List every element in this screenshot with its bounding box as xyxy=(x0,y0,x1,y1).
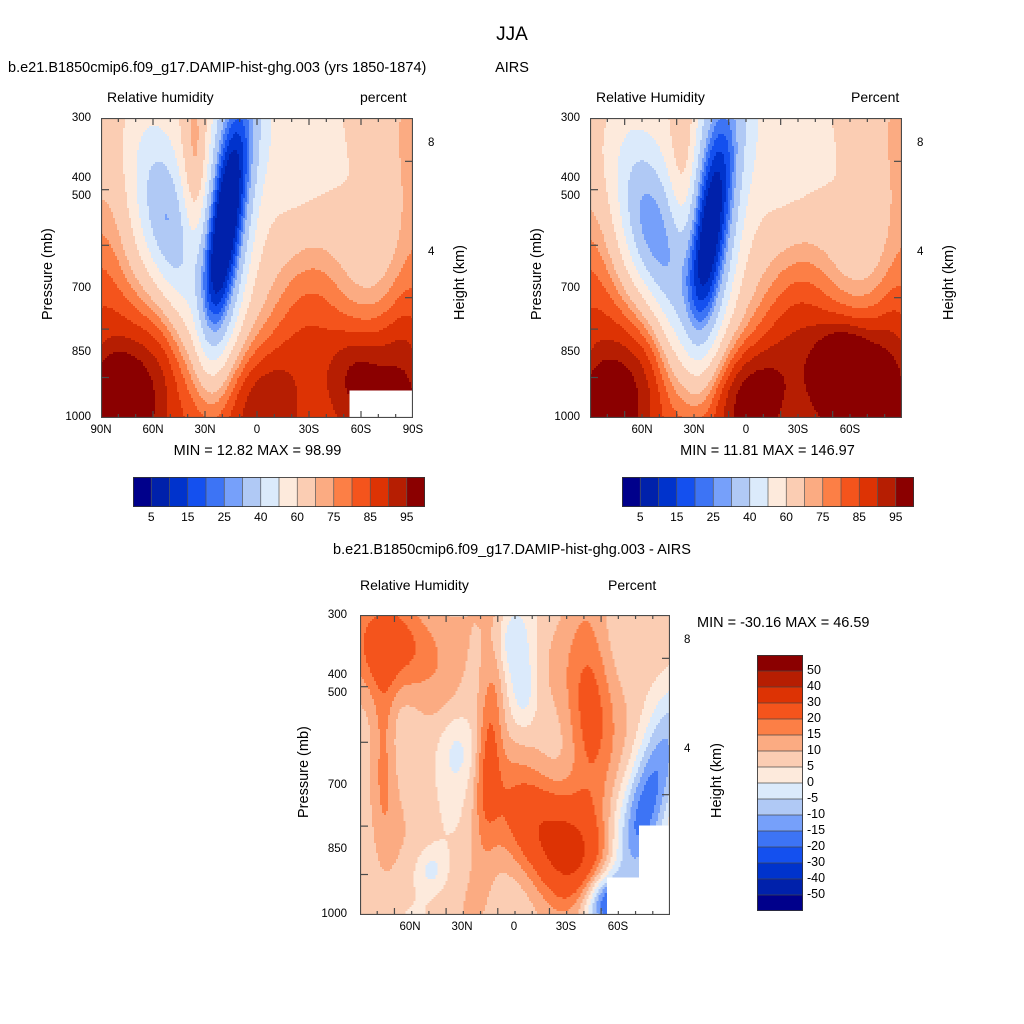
panel-diff-ytick-700: 700 xyxy=(319,779,347,791)
panel-diff-plot xyxy=(360,615,670,915)
colorbar-diff-tick-label: 5 xyxy=(807,759,814,773)
panel-diff-variable-label: Relative Humidity xyxy=(360,577,469,593)
panel-diff-y-axis-title: Pressure (mb) xyxy=(296,726,312,818)
colorbar-diff-tick-label: 10 xyxy=(807,743,821,757)
colorbar-diff-tick-label: -10 xyxy=(807,807,825,821)
colorbar-diff: 50403020151050-5-10-15-20-30-40-50 xyxy=(757,655,803,911)
colorbar-diff-tick-label: 50 xyxy=(807,663,821,677)
panel-diff-xtick-60S: 60S xyxy=(603,921,633,933)
panel-diff-ytick-300: 300 xyxy=(319,609,347,621)
colorbar-diff-tick-label: -30 xyxy=(807,855,825,869)
panel-diff-minmax: MIN = -30.16 MAX = 46.59 xyxy=(697,615,869,631)
colorbar-diff-swatches xyxy=(757,655,803,911)
panel-diff-xtick-0: 0 xyxy=(499,921,529,933)
panel-diff-title: b.e21.B1850cmip6.f09_g17.DAMIP-hist-ghg.… xyxy=(0,542,1024,558)
panel-diff: b.e21.B1850cmip6.f09_g17.DAMIP-hist-ghg.… xyxy=(0,0,1024,1024)
colorbar-diff-tick-label: 30 xyxy=(807,695,821,709)
panel-diff-xtick-60N: 60N xyxy=(395,921,425,933)
panel-diff-y2tick-8: 8 xyxy=(684,634,690,646)
panel-diff-ytick-400: 400 xyxy=(319,669,347,681)
panel-diff-xtick-30S: 30S xyxy=(551,921,581,933)
panel-diff-ytick-500: 500 xyxy=(319,687,347,699)
colorbar-diff-labels: 50403020151050-5-10-15-20-30-40-50 xyxy=(807,655,857,911)
panel-diff-y2-axis-title: Height (km) xyxy=(709,743,725,818)
colorbar-diff-tick-label: -5 xyxy=(807,791,818,805)
panel-diff-ytick-1000: 1000 xyxy=(313,908,347,920)
panel-diff-ytick-850: 850 xyxy=(319,843,347,855)
panel-diff-xtick-30N: 30N xyxy=(447,921,477,933)
colorbar-diff-tick-label: 40 xyxy=(807,679,821,693)
panel-diff-y2tick-4: 4 xyxy=(684,743,690,755)
colorbar-diff-tick-label: -40 xyxy=(807,871,825,885)
colorbar-diff-tick-label: -50 xyxy=(807,887,825,901)
panel-diff-units-label: Percent xyxy=(608,577,656,593)
colorbar-diff-tick-label: -15 xyxy=(807,823,825,837)
colorbar-diff-tick-label: 0 xyxy=(807,775,814,789)
colorbar-diff-tick-label: -20 xyxy=(807,839,825,853)
colorbar-diff-tick-label: 20 xyxy=(807,711,821,725)
colorbar-diff-tick-label: 15 xyxy=(807,727,821,741)
